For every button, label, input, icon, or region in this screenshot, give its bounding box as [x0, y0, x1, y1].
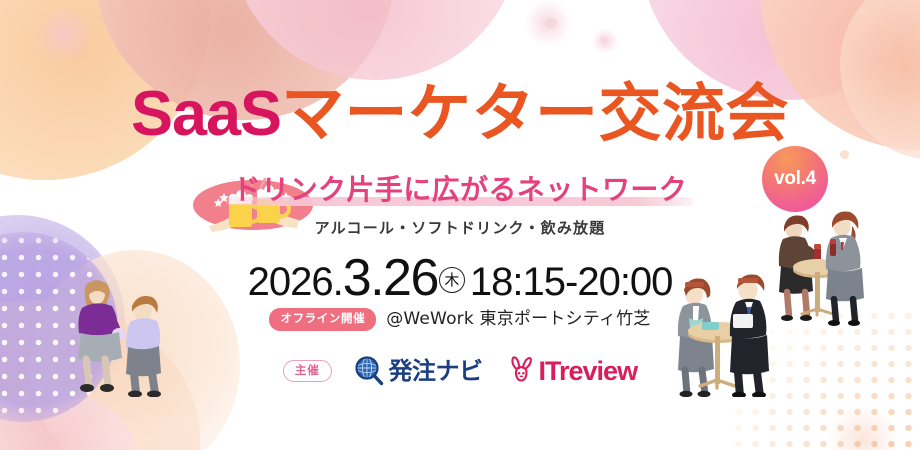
rabbit-icon	[509, 355, 536, 387]
sponsor-row: 主催 発注ナビ ITreview	[0, 355, 920, 387]
banner-subtitle-wrap: ドリンク片手に広がるネットワーク	[0, 176, 920, 207]
event-time: 18:15-20:00	[470, 260, 673, 304]
decor-blob-pink-top-left	[230, 0, 520, 80]
date-day-of-week: 木	[439, 267, 465, 293]
logo-hatchunavi: 発注ナビ	[354, 356, 483, 386]
subtitle-highlight: ドリンク片手に広がるネットワーク	[227, 176, 693, 207]
decor-confetti-dot	[600, 36, 607, 43]
offline-badge: オフライン開催	[269, 308, 376, 331]
decor-confetti-dot	[546, 18, 557, 29]
itreview-text: ITreview	[539, 358, 638, 385]
date-day: 3.26	[343, 249, 438, 307]
event-date-row: 2026.3.26木18:15-20:00	[0, 252, 920, 304]
magnifying-glass-globe-icon	[354, 356, 384, 386]
venue-name: @WeWork 東京ポートシティ竹芝	[386, 311, 650, 328]
banner-subtitle: ドリンク片手に広がるネットワーク	[233, 173, 687, 206]
banner-title: SaaSマーケター交流会	[0, 82, 920, 146]
title-japanese: マーケター交流会	[281, 77, 789, 150]
banner-subnote: アルコール・ソフトドリンク・飲み放題	[0, 217, 920, 238]
decor-blob-mini-a	[35, 5, 93, 63]
host-badge: 主催	[283, 360, 332, 383]
event-banner: SaaSマーケター交流会 vol.4	[0, 0, 920, 450]
date-year: 2026.	[248, 260, 343, 304]
logo-itreview: ITreview	[509, 355, 638, 387]
decor-confetti-dot	[840, 150, 849, 159]
title-saas: SaaS	[131, 79, 281, 149]
hatchunavi-text: 発注ナビ	[389, 359, 483, 383]
event-venue-row: オフライン開催@WeWork 東京ポートシティ竹芝	[0, 308, 920, 331]
